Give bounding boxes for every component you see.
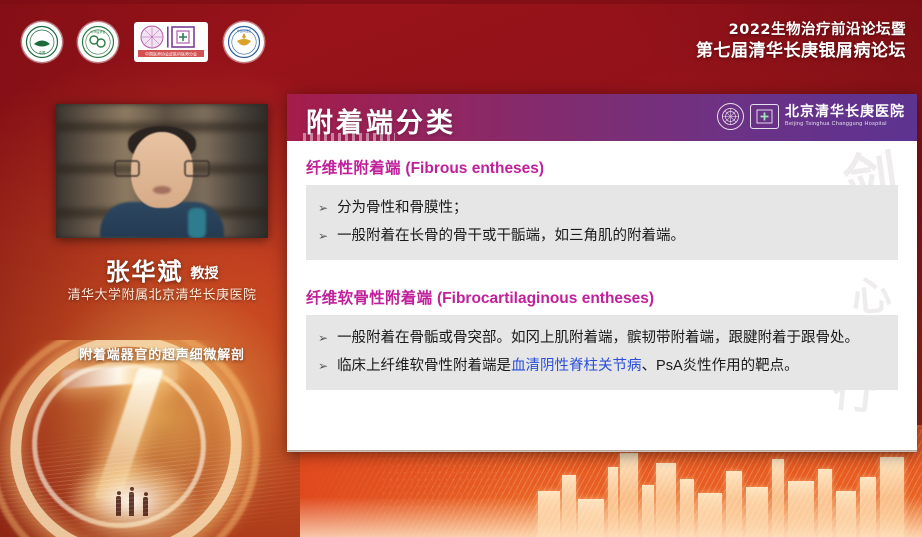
- webinar-screen: 中国 中华医学会: [0, 0, 922, 537]
- bullet-text: 一般附着在长骨的骨干或干骺端，如三角肌的附着端。: [337, 222, 685, 250]
- bullet-text: 一般附着在骨骺或骨突部。如冈上肌附着端，髌韧带附着端，跟腱附着于跟骨处。: [337, 324, 859, 352]
- speaker-affiliation: 清华大学附属北京清华长庚医院: [0, 284, 324, 303]
- hospital-name-cn: 北京清华长庚医院: [785, 105, 905, 120]
- section-heading: 纤维性附着端 (Fibrous entheses): [306, 156, 898, 178]
- slide-section-fibrocartilaginous: 纤维软骨性附着端 (Fibrocartilaginous entheses) ➢…: [306, 286, 898, 390]
- svg-text:中国中西医: 中国中西医: [237, 29, 251, 33]
- bullet-arrow-icon: ➢: [318, 194, 328, 222]
- speaker-video-feed[interactable]: [56, 104, 268, 238]
- slide-watermarks: 剑 隐 心 行: [287, 94, 917, 452]
- speaker-name: 张华斌: [106, 259, 184, 286]
- bullet-text-part: 临床上纤维软骨性附着端是: [337, 358, 511, 374]
- logo-org-1: 中国: [22, 22, 62, 62]
- conference-title: 2022生物治疗前沿论坛暨 第七届清华长庚银屑病论坛: [696, 20, 906, 63]
- slide-title-bar: 附着端分类: [287, 94, 917, 141]
- svg-text:中华医学会: 中华医学会: [90, 29, 105, 34]
- hospital-seal-icon: [717, 103, 744, 130]
- bullet-item: ➢ 一般附着在骨骺或骨突部。如冈上肌附着端，髌韧带附着端，跟腱附着于跟骨处。: [318, 324, 886, 352]
- bullet-arrow-icon: ➢: [318, 324, 328, 352]
- lecture-topic-text: 附着端器官的超声细微解剖: [0, 344, 324, 363]
- logo-org-4: 中国中西医: [224, 22, 264, 62]
- title-decoration: [303, 133, 395, 141]
- hospital-cross-icon: [750, 104, 779, 129]
- section-content-box: ➢ 分为骨性和骨膜性； ➢ 一般附着在长骨的骨干或干骺端，如三角肌的附着端。: [306, 185, 898, 260]
- hospital-name-en: Beijing Tsinghua Changgung Hospital: [785, 122, 905, 128]
- bullet-text-part: 、PsA炎性作用的靶点。: [642, 358, 799, 374]
- speaker-figure: [102, 126, 222, 238]
- section-heading-en: (Fibrocartilaginous entheses): [437, 290, 654, 307]
- conference-title-line2: 第七届清华长庚银屑病论坛: [696, 40, 906, 63]
- bullet-text: 分为骨性和骨膜性；: [337, 194, 468, 222]
- section-heading-en: (Fibrous entheses): [405, 160, 544, 177]
- svg-text:中国医师协会皮肤科医师分会: 中国医师协会皮肤科医师分会: [145, 51, 197, 57]
- svg-text:中国: 中国: [39, 50, 46, 55]
- slide-drop-shadow: [287, 450, 917, 454]
- hospital-logo-group: 北京清华长庚医院 Beijing Tsinghua Changgung Hosp…: [717, 103, 905, 130]
- bullet-item: ➢ 一般附着在长骨的骨干或干骺端，如三角肌的附着端。: [318, 222, 886, 250]
- speaker-title: 教授: [191, 265, 219, 281]
- section-heading-cn: 纤维软骨性附着端: [306, 290, 432, 307]
- logo-org-3: 中国医师协会皮肤科医师分会: [134, 22, 208, 62]
- logo-org-2: 中华医学会: [78, 22, 118, 62]
- section-heading-cn: 纤维性附着端: [306, 160, 401, 177]
- organization-logos: 中国 中华医学会: [22, 22, 264, 62]
- section-content-box: ➢ 一般附着在骨骺或骨突部。如冈上肌附着端，髌韧带附着端，跟腱附着于跟骨处。 ➢…: [306, 315, 898, 390]
- conference-title-line1: 2022生物治疗前沿论坛暨: [696, 20, 906, 40]
- bullet-arrow-icon: ➢: [318, 352, 328, 380]
- hospital-name-block: 北京清华长庚医院 Beijing Tsinghua Changgung Hosp…: [785, 105, 905, 127]
- section-heading: 纤维软骨性附着端 (Fibrocartilaginous entheses): [306, 286, 898, 308]
- presentation-slide[interactable]: 剑 隐 心 行 附着端分类: [287, 94, 917, 452]
- bullet-item: ➢ 分为骨性和骨膜性；: [318, 194, 886, 222]
- top-band: [0, 0, 922, 4]
- slide-section-fibrous: 纤维性附着端 (Fibrous entheses) ➢ 分为骨性和骨膜性； ➢ …: [306, 156, 898, 260]
- bullet-text: 临床上纤维软骨性附着端是血清阴性脊柱关节病、PsA炎性作用的靶点。: [337, 352, 799, 380]
- speaker-name-row: 张华斌教授: [0, 252, 324, 287]
- bullet-item: ➢ 临床上纤维软骨性附着端是血清阴性脊柱关节病、PsA炎性作用的靶点。: [318, 352, 886, 380]
- bullet-text-highlight: 血清阴性脊柱关节病: [511, 358, 642, 374]
- bullet-arrow-icon: ➢: [318, 222, 328, 250]
